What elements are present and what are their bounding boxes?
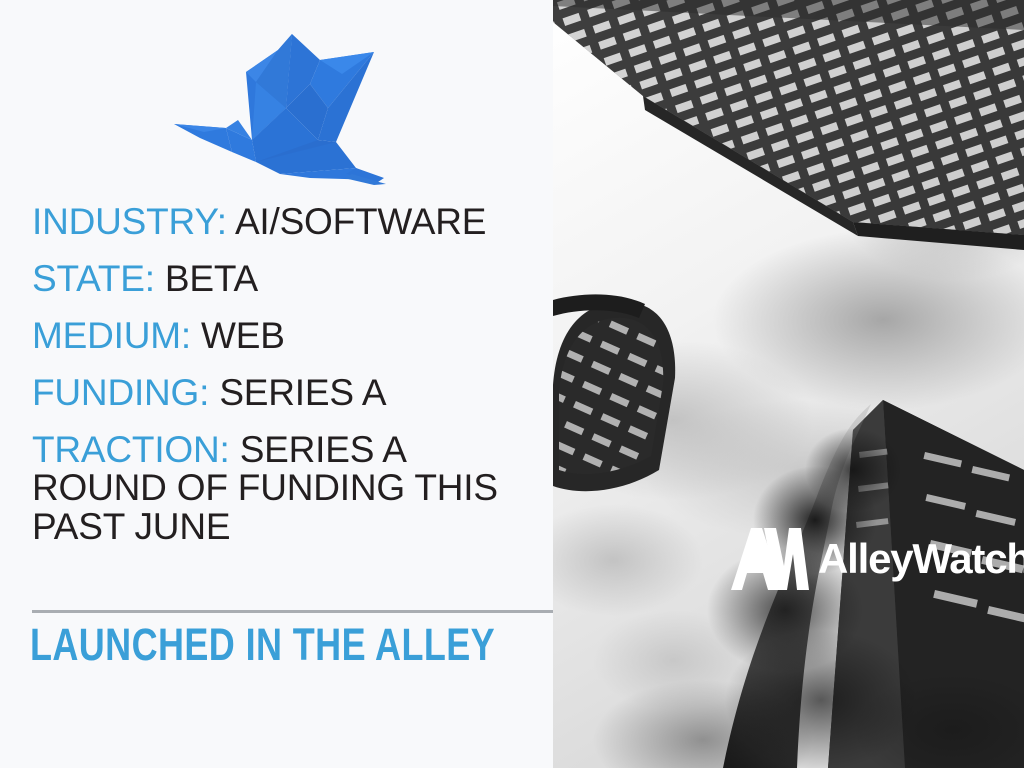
fact-label-funding: FUNDING: xyxy=(32,372,209,413)
fact-label-industry: INDUSTRY: xyxy=(32,201,227,242)
fact-value-medium: WEB xyxy=(201,315,285,356)
alleywatch-aw-monogram-icon xyxy=(731,528,809,590)
low-poly-bird-icon xyxy=(174,34,386,185)
fact-label-medium: MEDIUM: xyxy=(32,315,191,356)
fact-label-state: STATE: xyxy=(32,258,155,299)
fact-value-state: BETA xyxy=(165,258,258,299)
fact-value-industry: AI/SOFTWARE xyxy=(235,201,486,242)
fact-value-funding: SERIES A xyxy=(219,372,386,413)
fact-row-industry: INDUSTRY: AI/SOFTWARE xyxy=(32,203,542,240)
fact-row-medium: MEDIUM: WEB xyxy=(32,317,542,354)
fact-row-traction: TRACTION: SERIES A ROUND OF FUNDING THIS… xyxy=(32,431,542,546)
launched-in-the-alley-banner: LAUNCHED IN THE ALLEY xyxy=(30,622,495,667)
hero-photo: AlleyWatch xyxy=(553,0,1024,768)
fact-list: INDUSTRY: AI/SOFTWARE STATE: BETA MEDIUM… xyxy=(32,203,542,566)
divider-rule-left xyxy=(32,610,553,613)
company-logo xyxy=(160,12,392,188)
alleywatch-wordmark: AlleyWatch xyxy=(818,538,1024,580)
launched-in-the-alley-card: INDUSTRY: AI/SOFTWARE STATE: BETA MEDIUM… xyxy=(0,0,1024,768)
alleywatch-watermark: AlleyWatch xyxy=(731,528,1024,590)
fact-row-state: STATE: BETA xyxy=(32,260,542,297)
fact-row-funding: FUNDING: SERIES A xyxy=(32,374,542,411)
info-panel: INDUSTRY: AI/SOFTWARE STATE: BETA MEDIUM… xyxy=(0,0,553,768)
fact-label-traction: TRACTION: xyxy=(32,429,230,470)
